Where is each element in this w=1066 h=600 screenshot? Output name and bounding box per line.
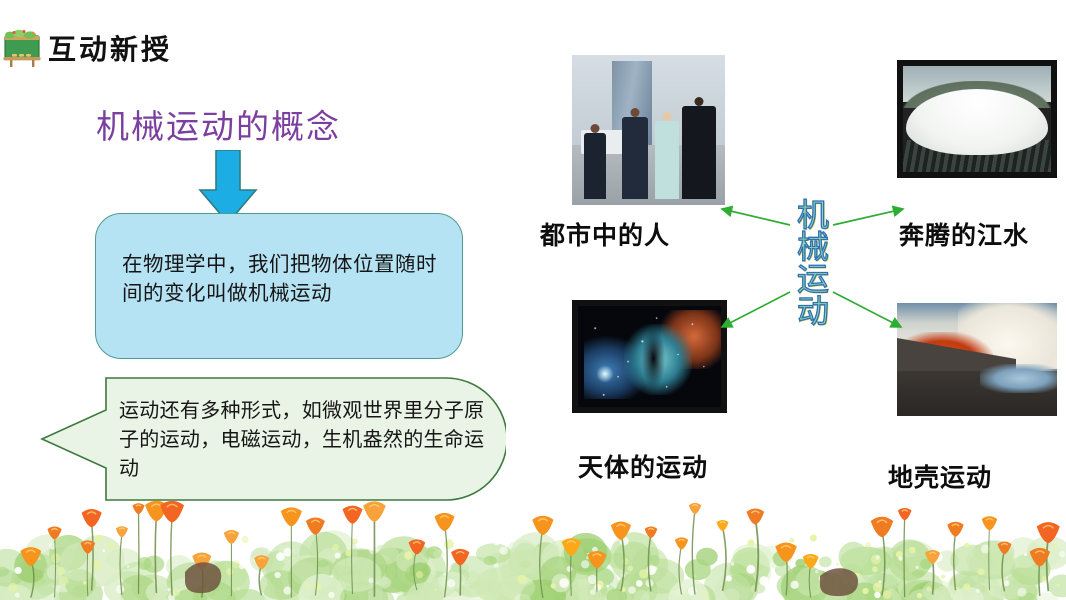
space-nebula-photo xyxy=(572,300,727,413)
page-title: 互动新授 xyxy=(48,28,172,68)
center-concept-label: 机械运动 xyxy=(787,198,834,326)
caption-river: 奔腾的江水 xyxy=(899,216,1029,252)
slide-canvas: 互动新授 机械运动的概念 在物理学中，我们把物体位置随时间的变化叫做机械运动 运… xyxy=(0,0,1066,600)
caption-crust: 地壳运动 xyxy=(888,458,992,494)
definition-text: 在物理学中，我们把物体位置随时间的变化叫做机械运动 xyxy=(122,250,452,308)
caption-city: 都市中的人 xyxy=(540,216,670,252)
flower-grass-border xyxy=(0,490,1066,600)
volcano-eruption-photo xyxy=(897,303,1057,416)
concept-heading: 机械运动的概念 xyxy=(96,100,341,148)
definition-callout: 在物理学中，我们把物体位置随时间的变化叫做机械运动 xyxy=(95,213,463,359)
people-walking-city-photo xyxy=(572,55,725,205)
note-callout: 运动还有多种形式，如微观世界里分子原子的运动，电磁运动，生机盎然的生命运动 xyxy=(36,376,506,502)
note-text: 运动还有多种形式，如微观世界里分子原子的运动，电磁运动，生机盎然的生命运动 xyxy=(119,396,489,483)
caption-astro: 天体的运动 xyxy=(578,448,708,484)
dam-water-discharge-photo xyxy=(897,60,1057,178)
blackboard-icon xyxy=(2,24,44,68)
